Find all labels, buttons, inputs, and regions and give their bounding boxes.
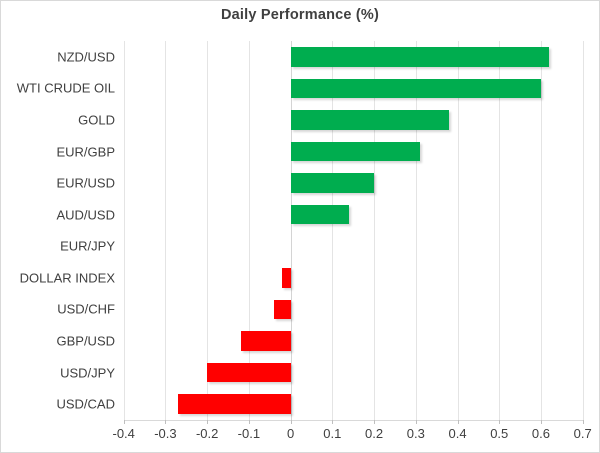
category-label: WTI CRUDE OIL [1,81,115,96]
y-axis-category-labels: NZD/USDWTI CRUDE OILGOLDEUR/GBPEUR/USDAU… [1,1,600,453]
bar[interactable] [282,268,290,288]
bar-row [124,173,583,193]
category-label: NZD/USD [1,49,115,64]
bar-row [124,268,583,288]
bar[interactable] [207,363,290,383]
category-label: EUR/JPY [1,239,115,254]
bar-row [124,237,583,257]
category-label: AUD/USD [1,207,115,222]
bar-row [124,47,583,67]
category-label: GOLD [1,112,115,127]
category-label: EUR/GBP [1,144,115,159]
bar-row [124,79,583,99]
bar-row [124,205,583,225]
bar[interactable] [291,205,349,225]
bar-row [124,394,583,414]
category-label: USD/JPY [1,365,115,380]
bar-row [124,300,583,320]
bar[interactable] [291,142,420,162]
bar[interactable] [241,331,291,351]
category-label: GBP/USD [1,334,115,349]
bar[interactable] [291,173,374,193]
category-label: EUR/USD [1,176,115,191]
bar[interactable] [274,300,291,320]
chart-container: Daily Performance (%) -0.4-0.3-0.2-0.100… [0,0,600,453]
bar-row [124,363,583,383]
bar-row [124,110,583,130]
category-label: DOLLAR INDEX [1,270,115,285]
bar[interactable] [291,110,450,130]
bar-row [124,142,583,162]
bar[interactable] [178,394,291,414]
category-label: USD/CAD [1,397,115,412]
category-label: USD/CHF [1,302,115,317]
bar[interactable] [291,79,541,99]
bar[interactable] [291,47,550,67]
bar-row [124,331,583,351]
